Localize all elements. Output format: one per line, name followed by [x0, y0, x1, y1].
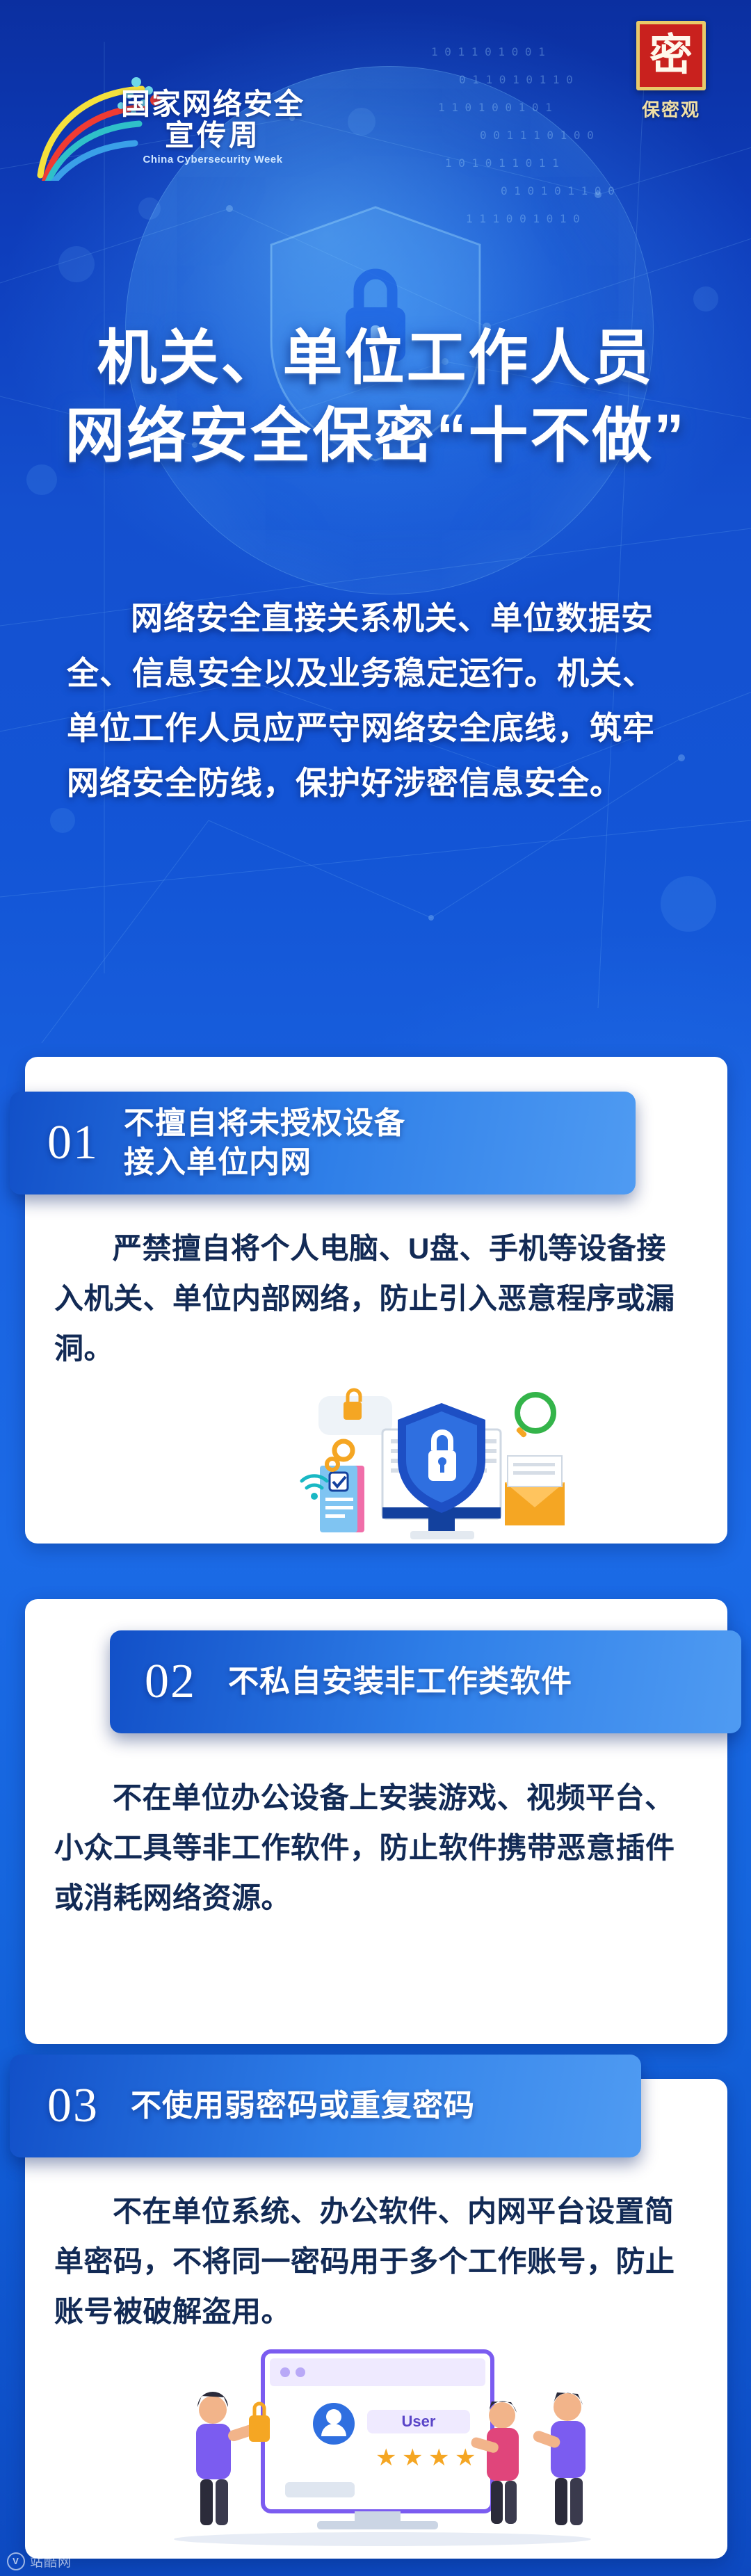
- item-03-body: 不在单位系统、办公软件、内网平台设置简单密码，不将同一密码用于多个工作账号，防止…: [54, 2187, 694, 2338]
- watermark-logo-icon: V: [7, 2552, 25, 2570]
- item-02-title: 不私自安装非工作类软件: [228, 1662, 572, 1701]
- security-shield-monitor-illustration: [299, 1384, 577, 1544]
- poster-header: 国家网络安全 宣传周 China Cybersecurity Week 密 保密…: [0, 0, 751, 209]
- hero-title-block: 机关、单位工作人员 网络安全保密“十不做”: [0, 320, 751, 476]
- password-login-screen-illustration: User ★★ ★★: [146, 2343, 619, 2552]
- intro-paragraph: 网络安全直接关系机关、单位数据安全、信息安全以及业务稳定运行。机关、单位工作人员…: [67, 591, 684, 811]
- item-03-title: 不使用弱密码或重复密码: [131, 2087, 475, 2125]
- seal-label: 保密观: [629, 96, 713, 122]
- logo-line2: 宣传周: [108, 120, 317, 152]
- item-02-body: 不在单位办公设备上安装游戏、视频平台、小众工具等非工作软件，防止软件携带恶意插件…: [54, 1773, 694, 1924]
- item-01-body: 严禁擅自将个人电脑、U盘、手机等设备接入机关、单位内部网络，防止引入恶意程序或漏…: [54, 1224, 694, 1375]
- item-02-header-band[interactable]: 02 不私自安装非工作类软件: [110, 1630, 741, 1733]
- item-01-title: 不擅自将未授权设备 接入单位内网: [124, 1104, 405, 1183]
- svg-text:★: ★: [375, 2445, 396, 2471]
- page-title: 机关、单位工作人员 网络安全保密“十不做”: [0, 320, 751, 476]
- poster-background: 1 0 1 1 0 1 0 0 1 0 1 1 0 1 0 1 1 0 1 1 …: [0, 0, 751, 2576]
- svg-text:★: ★: [402, 2445, 423, 2471]
- site-watermark: V 站酷网: [7, 2552, 72, 2570]
- baomiguan-seal: 密 保密观: [629, 21, 713, 122]
- svg-text:★: ★: [455, 2445, 476, 2471]
- seal-glyph: 密: [649, 34, 693, 77]
- item-03-header-band[interactable]: 03 不使用弱密码或重复密码: [10, 2055, 641, 2157]
- item-01-header-band[interactable]: 01 不擅自将未授权设备 接入单位内网: [10, 1092, 636, 1194]
- item-03-number: 03: [47, 2082, 131, 2130]
- person-right: [532, 2392, 586, 2525]
- person-left: [196, 2392, 270, 2525]
- seal-stamp-box: 密: [636, 21, 706, 90]
- svg-text:★: ★: [428, 2445, 449, 2471]
- item-02-number: 02: [145, 1658, 228, 1706]
- watermark-text: 站酷网: [30, 2552, 72, 2570]
- title-line-1: 机关、单位工作人员: [0, 320, 751, 398]
- login-user-label: User: [402, 2413, 436, 2430]
- item-01-number: 01: [47, 1119, 124, 1167]
- title-line-2: 网络安全保密“十不做”: [0, 398, 751, 476]
- logo-english-subtitle: China Cybersecurity Week: [108, 154, 317, 165]
- cybersecurity-week-logo: 国家网络安全 宣传周 China Cybersecurity Week: [32, 76, 324, 181]
- logo-line1: 国家网络安全: [108, 89, 317, 120]
